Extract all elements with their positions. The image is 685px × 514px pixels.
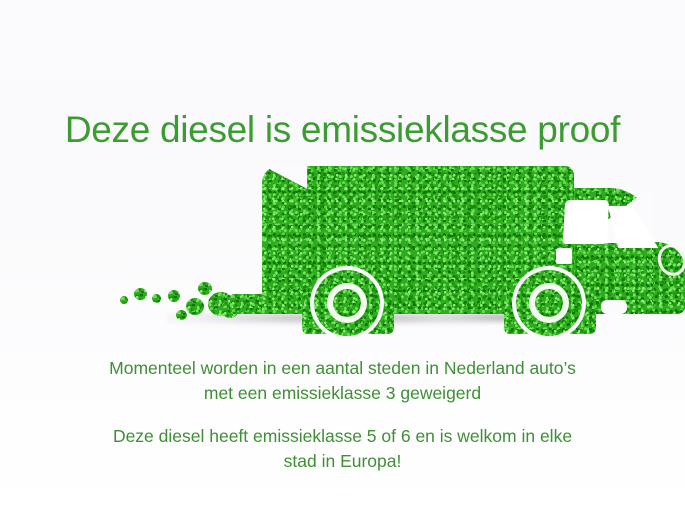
van-illustration [112, 152, 582, 347]
exhaust-puff [168, 290, 180, 302]
page-title: Deze diesel is emissieklasse proof [0, 108, 685, 152]
front-hub [535, 289, 563, 317]
paragraph-2-line-2: stad in Europa! [0, 449, 685, 474]
paragraph-1-line-2: met een emissieklasse 3 geweigerd [0, 381, 685, 406]
rear-hub [333, 289, 361, 317]
body-paragraph-2: Deze diesel heeft emissieklasse 5 of 6 e… [0, 424, 685, 474]
exhaust-puff [120, 296, 128, 304]
exhaust-puff [134, 288, 147, 300]
vent-window [556, 248, 572, 264]
paragraph-1-line-1: Momenteel worden in een aantal steden in… [0, 356, 685, 381]
exhaust-puff [152, 294, 161, 303]
exhaust-puff [176, 310, 187, 320]
exhaust-puff [198, 282, 212, 295]
door-window [563, 200, 609, 244]
paragraph-2-line-1: Deze diesel heeft emissieklasse 5 of 6 e… [0, 424, 685, 449]
slide-canvas: Deze diesel is emissieklasse proof [0, 0, 685, 514]
front-wheel [512, 266, 586, 340]
rear-wheel [310, 266, 384, 340]
exhaust-puff [186, 298, 204, 315]
body-paragraph-1: Momenteel worden in een aantal steden in… [0, 356, 685, 406]
bumper-notch [601, 300, 627, 314]
